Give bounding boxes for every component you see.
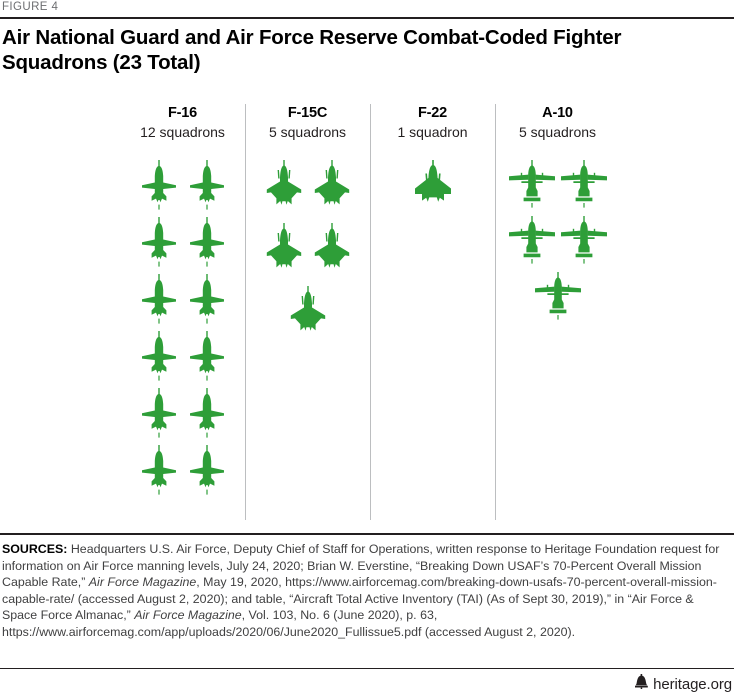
f16-jet-icon bbox=[183, 388, 231, 445]
column-count-f22: 1 squadron bbox=[397, 123, 467, 142]
column-header-a10: A-10 5 squadrons bbox=[519, 104, 596, 142]
a10-jet-icon bbox=[506, 160, 558, 216]
a10-jet-icon bbox=[532, 272, 584, 328]
f16-jet-icon bbox=[135, 388, 183, 445]
sources-note: SOURCES: Headquarters U.S. Air Force, De… bbox=[2, 541, 724, 641]
icon-grid-f15c bbox=[260, 160, 356, 349]
figure-label: FIGURE 4 bbox=[2, 1, 58, 13]
f16-jet-icon bbox=[183, 160, 231, 217]
a10-jet-icon bbox=[506, 216, 558, 272]
column-f16: F-16 12 squadrons bbox=[120, 104, 245, 520]
sources-italic-1: Air Force Magazine bbox=[89, 575, 196, 589]
f16-jet-icon bbox=[135, 445, 183, 502]
f16-jet-icon bbox=[183, 217, 231, 274]
a10-jet-icon bbox=[558, 160, 610, 216]
f16-jet-icon bbox=[183, 331, 231, 388]
column-count-f16: 12 squadrons bbox=[140, 123, 225, 142]
footer-site: heritage.org bbox=[653, 676, 732, 693]
column-f15c: F-15C 5 squadrons bbox=[245, 104, 370, 520]
sources-italic-2: Air Force Magazine bbox=[134, 608, 241, 622]
f15c-jet-icon bbox=[260, 223, 308, 286]
sources-label: SOURCES: bbox=[2, 542, 67, 556]
footer-rule bbox=[0, 668, 734, 669]
icon-grid-a10 bbox=[506, 160, 610, 328]
f16-jet-icon bbox=[183, 274, 231, 331]
icon-grid-f22 bbox=[409, 160, 457, 217]
column-title-a10: A-10 bbox=[519, 104, 596, 122]
f15c-jet-icon bbox=[260, 160, 308, 223]
f15c-jet-icon bbox=[308, 160, 356, 223]
column-a10: A-10 5 squadrons bbox=[495, 104, 620, 520]
footer: heritage.org bbox=[635, 674, 732, 694]
figure-page: FIGURE 4 Air National Guard and Air Forc… bbox=[0, 0, 734, 700]
pictogram-columns: F-16 12 squadrons F-15C 5 squadrons F-22… bbox=[120, 104, 620, 520]
f15c-jet-icon bbox=[284, 286, 332, 349]
f15c-jet-icon bbox=[308, 223, 356, 286]
liberty-bell-icon bbox=[635, 674, 648, 694]
icon-grid-f16 bbox=[135, 160, 231, 502]
column-count-a10: 5 squadrons bbox=[519, 123, 596, 142]
header-rule bbox=[0, 17, 734, 19]
column-header-f15c: F-15C 5 squadrons bbox=[269, 104, 346, 142]
f16-jet-icon bbox=[183, 445, 231, 502]
column-title-f15c: F-15C bbox=[269, 104, 346, 122]
column-header-f16: F-16 12 squadrons bbox=[140, 104, 225, 142]
column-header-f22: F-22 1 squadron bbox=[397, 104, 467, 142]
column-title-f16: F-16 bbox=[140, 104, 225, 122]
f16-jet-icon bbox=[135, 217, 183, 274]
a10-jet-icon bbox=[558, 216, 610, 272]
column-count-f15c: 5 squadrons bbox=[269, 123, 346, 142]
f22-jet-icon bbox=[409, 160, 457, 217]
column-title-f22: F-22 bbox=[397, 104, 467, 122]
sources-rule bbox=[0, 533, 734, 535]
f16-jet-icon bbox=[135, 331, 183, 388]
column-f22: F-22 1 squadron bbox=[370, 104, 495, 520]
f16-jet-icon bbox=[135, 274, 183, 331]
page-title: Air National Guard and Air Force Reserve… bbox=[2, 25, 702, 75]
f16-jet-icon bbox=[135, 160, 183, 217]
